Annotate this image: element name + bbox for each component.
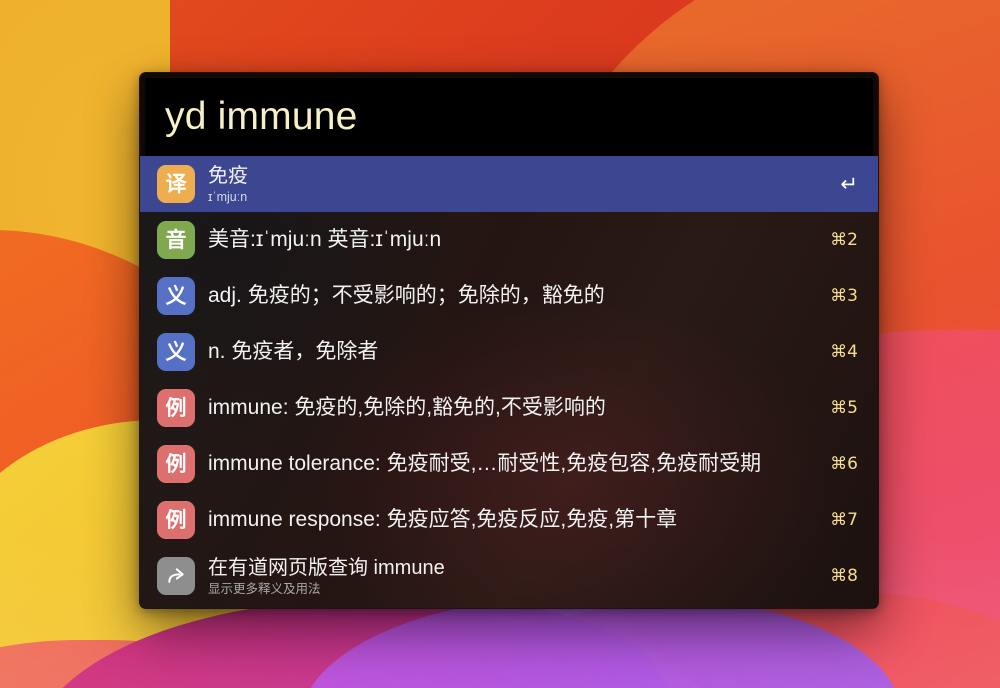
result-text: 在有道网页版查询 immune显示更多释义及用法 — [208, 556, 816, 597]
result-row[interactable]: 在有道网页版查询 immune显示更多释义及用法⌘8 — [140, 548, 878, 604]
result-text: 美音:ɪˈmjuːn 英音:ɪˈmjuːn — [208, 227, 816, 252]
definition-badge-icon: 义 — [157, 333, 195, 371]
result-title: immune response: 免疫应答,免疫反应,免疫,第十章 — [208, 507, 816, 532]
result-shortcut: ⌘2 — [830, 230, 858, 250]
result-subtitle: ɪˈmjuːn — [208, 190, 826, 205]
result-title: 美音:ɪˈmjuːn 英音:ɪˈmjuːn — [208, 227, 816, 252]
result-title: n. 免疫者，免除者 — [208, 339, 816, 364]
result-text: immune: 免疫的,免除的,豁免的,不受影响的 — [208, 395, 816, 420]
result-title: immune tolerance: 免疫耐受,…耐受性,免疫包容,免疫耐受期 — [208, 451, 816, 476]
search-input[interactable]: yd immune — [165, 95, 358, 139]
result-subtitle: 显示更多释义及用法 — [208, 582, 816, 597]
result-row[interactable]: 例immune response: 免疫应答,免疫反应,免疫,第十章⌘7 — [140, 492, 878, 548]
result-row[interactable]: 义n. 免疫者，免除者⌘4 — [140, 324, 878, 380]
search-bar[interactable]: yd immune — [145, 78, 873, 156]
results-list: 译免疫ɪˈmjuːn↵音美音:ɪˈmjuːn 英音:ɪˈmjuːn⌘2义adj.… — [140, 156, 878, 609]
result-row[interactable]: 音美音:ɪˈmjuːn 英音:ɪˈmjuːn⌘2 — [140, 212, 878, 268]
definition-badge-icon: 义 — [157, 277, 195, 315]
translate-badge-icon: 译 — [157, 165, 195, 203]
result-text: 免疫ɪˈmjuːn — [208, 164, 826, 205]
result-row[interactable]: 义adj. 免疫的；不受影响的；免除的，豁免的⌘3 — [140, 268, 878, 324]
result-shortcut: ⌘3 — [830, 286, 858, 306]
result-shortcut: ⌘5 — [830, 398, 858, 418]
result-shortcut: ⌘8 — [830, 566, 858, 586]
open-external-arrow-icon — [157, 557, 195, 595]
result-text: n. 免疫者，免除者 — [208, 339, 816, 364]
result-shortcut: ⌘6 — [830, 454, 858, 474]
result-text: immune tolerance: 免疫耐受,…耐受性,免疫包容,免疫耐受期 — [208, 451, 816, 476]
example-badge-icon: 例 — [157, 389, 195, 427]
result-row[interactable]: 例immune: 免疫的,免除的,豁免的,不受影响的⌘5 — [140, 380, 878, 436]
result-title: 在有道网页版查询 immune — [208, 556, 816, 580]
return-key-icon: ↵ — [840, 172, 858, 196]
launcher-window: yd immune 译免疫ɪˈmjuːn↵音美音:ɪˈmjuːn 英音:ɪˈmj… — [139, 72, 879, 609]
desktop-wallpaper: yd immune 译免疫ɪˈmjuːn↵音美音:ɪˈmjuːn 英音:ɪˈmj… — [0, 0, 1000, 688]
result-shortcut: ⌘4 — [830, 342, 858, 362]
result-title: adj. 免疫的；不受影响的；免除的，豁免的 — [208, 283, 816, 308]
example-badge-icon: 例 — [157, 445, 195, 483]
example-badge-icon: 例 — [157, 501, 195, 539]
result-text: immune response: 免疫应答,免疫反应,免疫,第十章 — [208, 507, 816, 532]
pronunciation-badge-icon: 音 — [157, 221, 195, 259]
result-row[interactable]: 译免疫ɪˈmjuːn↵ — [140, 156, 878, 212]
result-title: 免疫 — [208, 164, 826, 188]
result-shortcut: ⌘7 — [830, 510, 858, 530]
result-title: immune: 免疫的,免除的,豁免的,不受影响的 — [208, 395, 816, 420]
result-row[interactable]: 例immune tolerance: 免疫耐受,…耐受性,免疫包容,免疫耐受期⌘… — [140, 436, 878, 492]
result-text: adj. 免疫的；不受影响的；免除的，豁免的 — [208, 283, 816, 308]
